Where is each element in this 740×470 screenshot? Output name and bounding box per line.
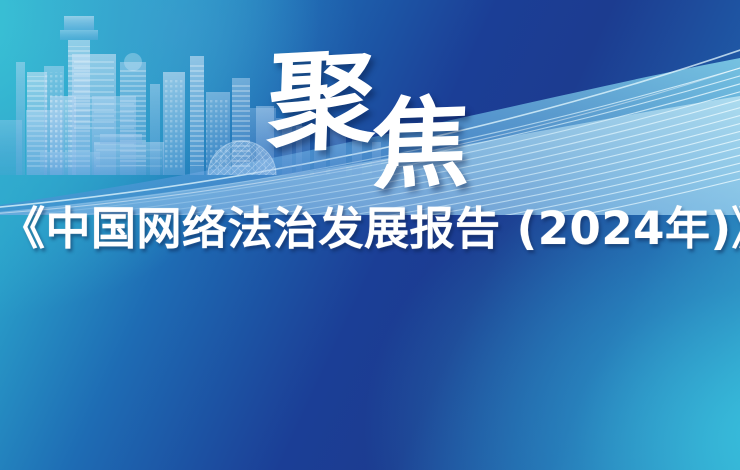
calligraphy-char-jiao: 焦 — [370, 94, 472, 195]
headline-text: 《中国网络法治发展报告 (2024年)》 — [0, 205, 740, 254]
calligraphy-char-ju: 聚 — [266, 45, 378, 159]
headline-container: 《中国网络法治发展报告 (2024年)》 — [0, 205, 740, 254]
calligraphy-heading: 聚 焦 — [0, 18, 740, 193]
poster-canvas: 聚 焦 《中国网络法治发展报告 (2024年)》 — [0, 0, 740, 470]
